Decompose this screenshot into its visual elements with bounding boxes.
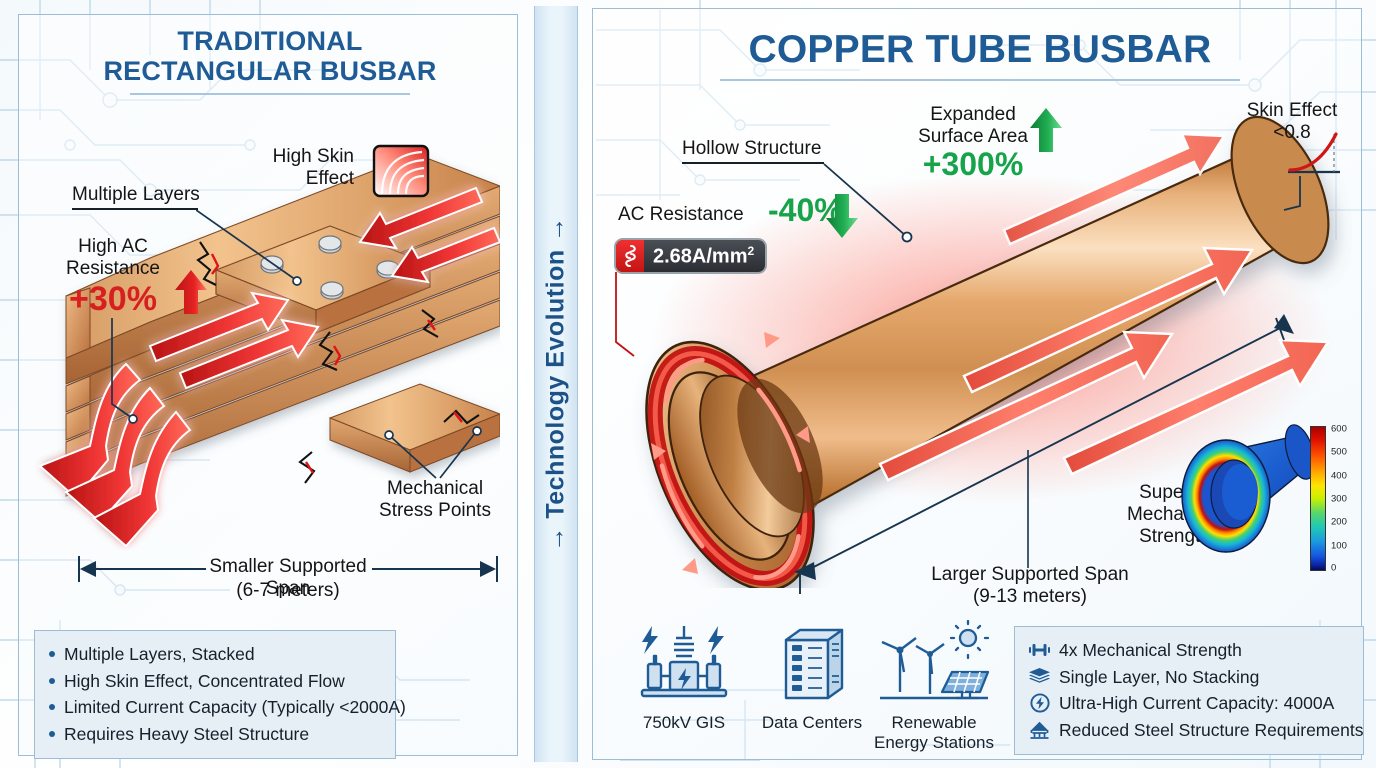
multiple-layers-annotation: Multiple Layers	[72, 184, 200, 210]
dumbbell-icon	[1029, 642, 1050, 658]
hollow-structure-annotation: Hollow Structure	[682, 138, 824, 164]
current-density-badge: 2.68A/mm2	[614, 238, 767, 274]
high-ac-resistance-annotation: High AC Resistance	[48, 236, 178, 280]
larger-supported-span-lines	[780, 300, 1300, 600]
list-item: Limited Current Capacity (Typically <200…	[49, 694, 381, 721]
expanded-surface-value: +300%	[923, 146, 1024, 182]
structure-icon	[1029, 721, 1050, 740]
skin-effect-leader-line	[1282, 176, 1304, 212]
traditional-busbar-summary-card: Multiple Layers, Stacked High Skin Effec…	[34, 630, 396, 759]
decrease-arrow-green-icon	[826, 192, 860, 240]
colorbar-tick: 400	[1331, 471, 1347, 482]
copper-tube-feature-list: 4x Mechanical Strength Single Layer, No …	[1029, 637, 1349, 743]
right-panel-title: COPPER TUBE BUSBAR	[640, 28, 1320, 81]
high-ac-resistance-leader-line	[108, 318, 138, 424]
layers-icon	[1029, 668, 1050, 685]
infographic-root: TRADITIONAL RECTANGULAR BUSBAR	[0, 0, 1376, 768]
application-gis: 750kV GIS	[614, 620, 754, 733]
application-data-centers-label: Data Centers	[742, 713, 882, 733]
mechanical-stress-annotation: Mechanical Stress Points	[370, 478, 500, 522]
fea-colorbar-gradient	[1310, 426, 1326, 571]
technology-evolution-label: → Technology Evolution →	[542, 216, 571, 551]
span-line-right	[372, 568, 488, 570]
skin-effect-curve-chart	[1286, 132, 1344, 176]
bullet-label: Limited Current Capacity (Typically <200…	[64, 694, 406, 721]
multiple-layers-leader	[72, 208, 198, 210]
fea-colorbar: 600 500 400 300 200 100 0	[1310, 426, 1364, 571]
feature-label: Ultra-High Current Capacity: 4000A	[1059, 690, 1334, 717]
right-span-label: Larger Supported Span	[920, 564, 1140, 586]
right-title-underline	[720, 79, 1240, 81]
high-skin-effect-annotation: High Skin Effect	[264, 146, 354, 190]
application-renewable-label-l1: Renewable	[864, 713, 1004, 733]
left-panel-title: TRADITIONAL RECTANGULAR BUSBAR	[60, 26, 480, 95]
left-title-underline	[130, 93, 410, 95]
feature-label: Reduced Steel Structure Requirements	[1059, 717, 1363, 744]
traditional-busbar-bullet-list: Multiple Layers, Stacked High Skin Effec…	[49, 641, 381, 747]
span-cap-right	[496, 556, 498, 582]
left-title-line2: RECTANGULAR BUSBAR	[60, 56, 480, 86]
technology-evolution-divider: → Technology Evolution →	[534, 6, 578, 762]
span-value: (6-7 meters)	[188, 580, 388, 602]
list-item: Multiple Layers, Stacked	[49, 641, 381, 668]
application-renewable: Renewable Energy Stations	[864, 620, 1004, 753]
current-symbol-icon	[622, 245, 638, 267]
span-arrow-right-icon	[478, 561, 496, 577]
increase-arrow-red-icon	[175, 268, 209, 316]
list-item: 4x Mechanical Strength	[1029, 637, 1349, 664]
current-density-value-wrap: 2.68A/mm2	[653, 244, 754, 269]
application-data-centers: Data Centers	[742, 620, 882, 733]
current-density-exponent: 2	[748, 244, 755, 258]
current-density-icon	[616, 240, 644, 272]
bullet-dot-icon	[49, 678, 55, 684]
list-item: Single Layer, No Stacking	[1029, 664, 1349, 691]
bullet-dot-icon	[49, 731, 55, 737]
application-gis-label: 750kV GIS	[614, 713, 754, 733]
colorbar-tick: 200	[1331, 517, 1347, 528]
application-icons-row: 750kV GIS	[614, 620, 1004, 754]
badge-leader-line	[612, 272, 638, 358]
larger-supported-span-annotation: Larger Supported Span (9-13 meters)	[920, 564, 1140, 608]
list-item: Ultra-High Current Capacity: 4000A	[1029, 690, 1349, 717]
ac-resistance-label: AC Resistance	[618, 204, 744, 226]
renewable-energy-icon	[876, 620, 992, 704]
colorbar-tick: 300	[1331, 494, 1347, 505]
bullet-label: High Skin Effect, Concentrated Flow	[64, 668, 345, 695]
hollow-structure-leader	[682, 162, 824, 164]
application-renewable-label-l2: Energy Stations	[864, 733, 1004, 753]
smaller-supported-span: Smaller Supported Span (6-7 meters)	[78, 556, 498, 614]
high-ac-resistance-value: +30%	[69, 280, 157, 318]
bullet-dot-icon	[49, 704, 55, 710]
left-title-line1: TRADITIONAL	[60, 26, 480, 56]
server-rack-icon	[764, 620, 860, 704]
colorbar-tick: 600	[1331, 424, 1347, 435]
bullet-label: Multiple Layers, Stacked	[64, 641, 255, 668]
list-item: High Skin Effect, Concentrated Flow	[49, 668, 381, 695]
feature-label: Single Layer, No Stacking	[1059, 664, 1259, 691]
right-span-value: (9-13 meters)	[920, 586, 1140, 608]
bullet-dot-icon	[49, 651, 55, 657]
list-item: Reduced Steel Structure Requirements	[1029, 717, 1349, 744]
mechanical-stress-leader-lines	[330, 398, 486, 482]
list-item: Requires Heavy Steel Structure	[49, 721, 381, 748]
colorbar-tick: 100	[1331, 541, 1347, 552]
right-title-text: COPPER TUBE BUSBAR	[640, 28, 1320, 72]
substation-icon	[636, 620, 732, 704]
increase-arrow-green-icon	[1030, 106, 1064, 154]
bullet-label: Requires Heavy Steel Structure	[64, 721, 309, 748]
colorbar-tick: 500	[1331, 447, 1347, 458]
bolt-circle-icon	[1029, 693, 1050, 713]
feature-label: 4x Mechanical Strength	[1059, 637, 1242, 664]
high-skin-effect-swatch-icon	[372, 144, 430, 198]
copper-tube-features-card: 4x Mechanical Strength Single Layer, No …	[1014, 626, 1364, 755]
current-density-value: 2.68A/mm	[653, 245, 748, 267]
expanded-surface-value-row: +300%	[900, 146, 1046, 183]
expanded-surface-annotation: Expanded Surface Area	[900, 104, 1046, 148]
high-ac-resistance-value-row: +30%	[48, 280, 178, 319]
multiple-layers-leader-line	[196, 208, 306, 286]
colorbar-tick: 0	[1331, 563, 1336, 574]
span-arrow-left-icon	[80, 561, 98, 577]
